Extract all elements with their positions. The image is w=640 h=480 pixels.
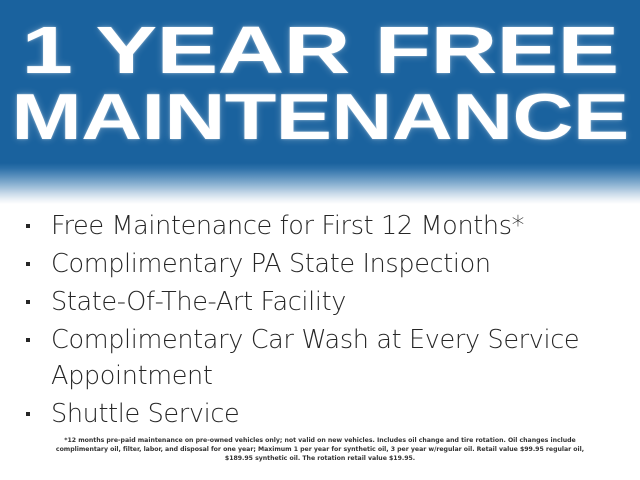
list-item: Complimentary Car Wash at Every Service … (22, 322, 622, 394)
banner-gradient-fade (0, 163, 640, 204)
bullet-square-icon (26, 412, 30, 416)
bullet-square-icon (26, 300, 30, 304)
feature-label: Shuttle Service (51, 396, 622, 432)
bullet-square-icon (26, 338, 30, 342)
bullet-square-icon (26, 224, 30, 228)
headline-banner: 1 YEAR FREE MAINTENANCE (0, 0, 640, 164)
disclaimer-text: *12 months pre-paid maintenance on pre-o… (42, 436, 598, 464)
bullet-square-icon (26, 262, 30, 266)
headline-line-2: MAINTENANCE (0, 84, 640, 149)
list-item: Complimentary PA State Inspection (22, 246, 622, 282)
feature-label: Free Maintenance for First 12 Months* (51, 208, 622, 244)
list-item: State-Of-The-Art Facility (22, 284, 622, 320)
feature-label: Complimentary PA State Inspection (51, 246, 622, 282)
list-item: Free Maintenance for First 12 Months* (22, 208, 622, 244)
feature-label: Complimentary Car Wash at Every Service … (51, 322, 622, 394)
promo-advertisement: 1 YEAR FREE MAINTENANCE Free Maintenance… (0, 0, 640, 480)
feature-list: Free Maintenance for First 12 Months* Co… (22, 208, 622, 434)
list-item: Shuttle Service (22, 396, 622, 432)
feature-label: State-Of-The-Art Facility (51, 284, 622, 320)
headline-line-1: 1 YEAR FREE (0, 17, 640, 84)
